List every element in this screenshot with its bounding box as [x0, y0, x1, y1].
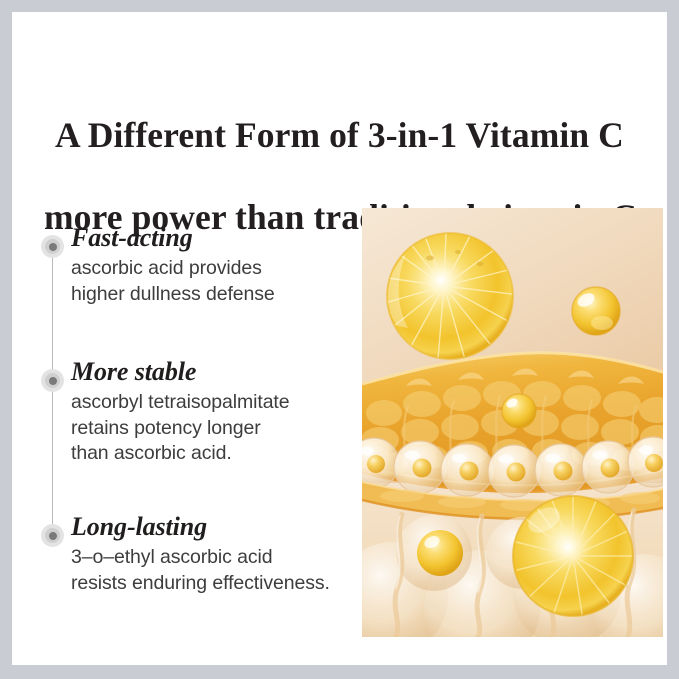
feature-body: More stable ascorbyl tetraisopalmitate r… — [71, 356, 376, 467]
feature-body: Long-lasting 3–o–ethyl ascorbic acid res… — [71, 511, 376, 596]
infographic-canvas: A Different Form of 3-in-1 Vitamin C mor… — [12, 12, 667, 665]
feature-title: Fast-acting — [71, 222, 376, 253]
bullet-dot-icon — [41, 235, 64, 258]
outer-frame: A Different Form of 3-in-1 Vitamin C mor… — [0, 0, 679, 679]
feature-description: 3–o–ethyl ascorbic acid resists enduring… — [71, 545, 376, 596]
golden-serum-droplets-photo — [362, 208, 663, 637]
bullet-dot-icon — [41, 369, 64, 392]
feature-description: ascorbic acid provides higher dullness d… — [71, 256, 376, 307]
feature-description: ascorbyl tetraisopalmitate retains poten… — [71, 390, 376, 467]
feature-title: More stable — [71, 356, 376, 387]
bullet-dot-icon — [41, 524, 64, 547]
feature-title: Long-lasting — [71, 511, 376, 542]
feature-list: Fast-acting ascorbic acid provides highe… — [12, 212, 374, 612]
feature-body: Fast-acting ascorbic acid provides highe… — [71, 222, 376, 307]
page-title-line-1: A Different Form of 3-in-1 Vitamin C — [44, 115, 644, 156]
